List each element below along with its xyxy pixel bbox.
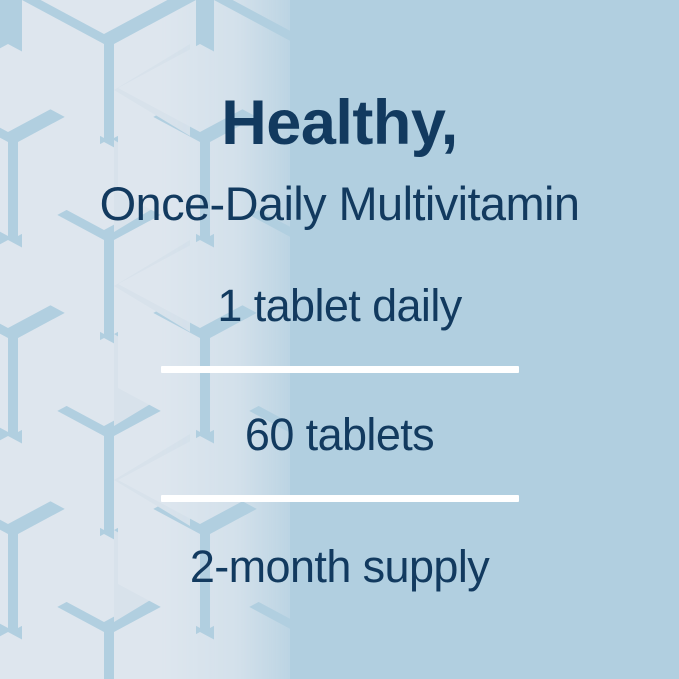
- divider-1: [161, 366, 519, 373]
- fact-dosage: 1 tablet daily: [217, 283, 461, 328]
- page-title: Healthy,: [221, 92, 457, 155]
- content-column: Healthy, Once-Daily Multivitamin 1 table…: [0, 0, 679, 679]
- divider-2: [161, 495, 519, 502]
- product-subtitle: Once-Daily Multivitamin: [100, 180, 580, 227]
- fact-count: 60 tablets: [245, 412, 434, 457]
- fact-supply-duration: 2-month supply: [190, 544, 489, 589]
- product-info-card: Healthy, Once-Daily Multivitamin 1 table…: [0, 0, 679, 679]
